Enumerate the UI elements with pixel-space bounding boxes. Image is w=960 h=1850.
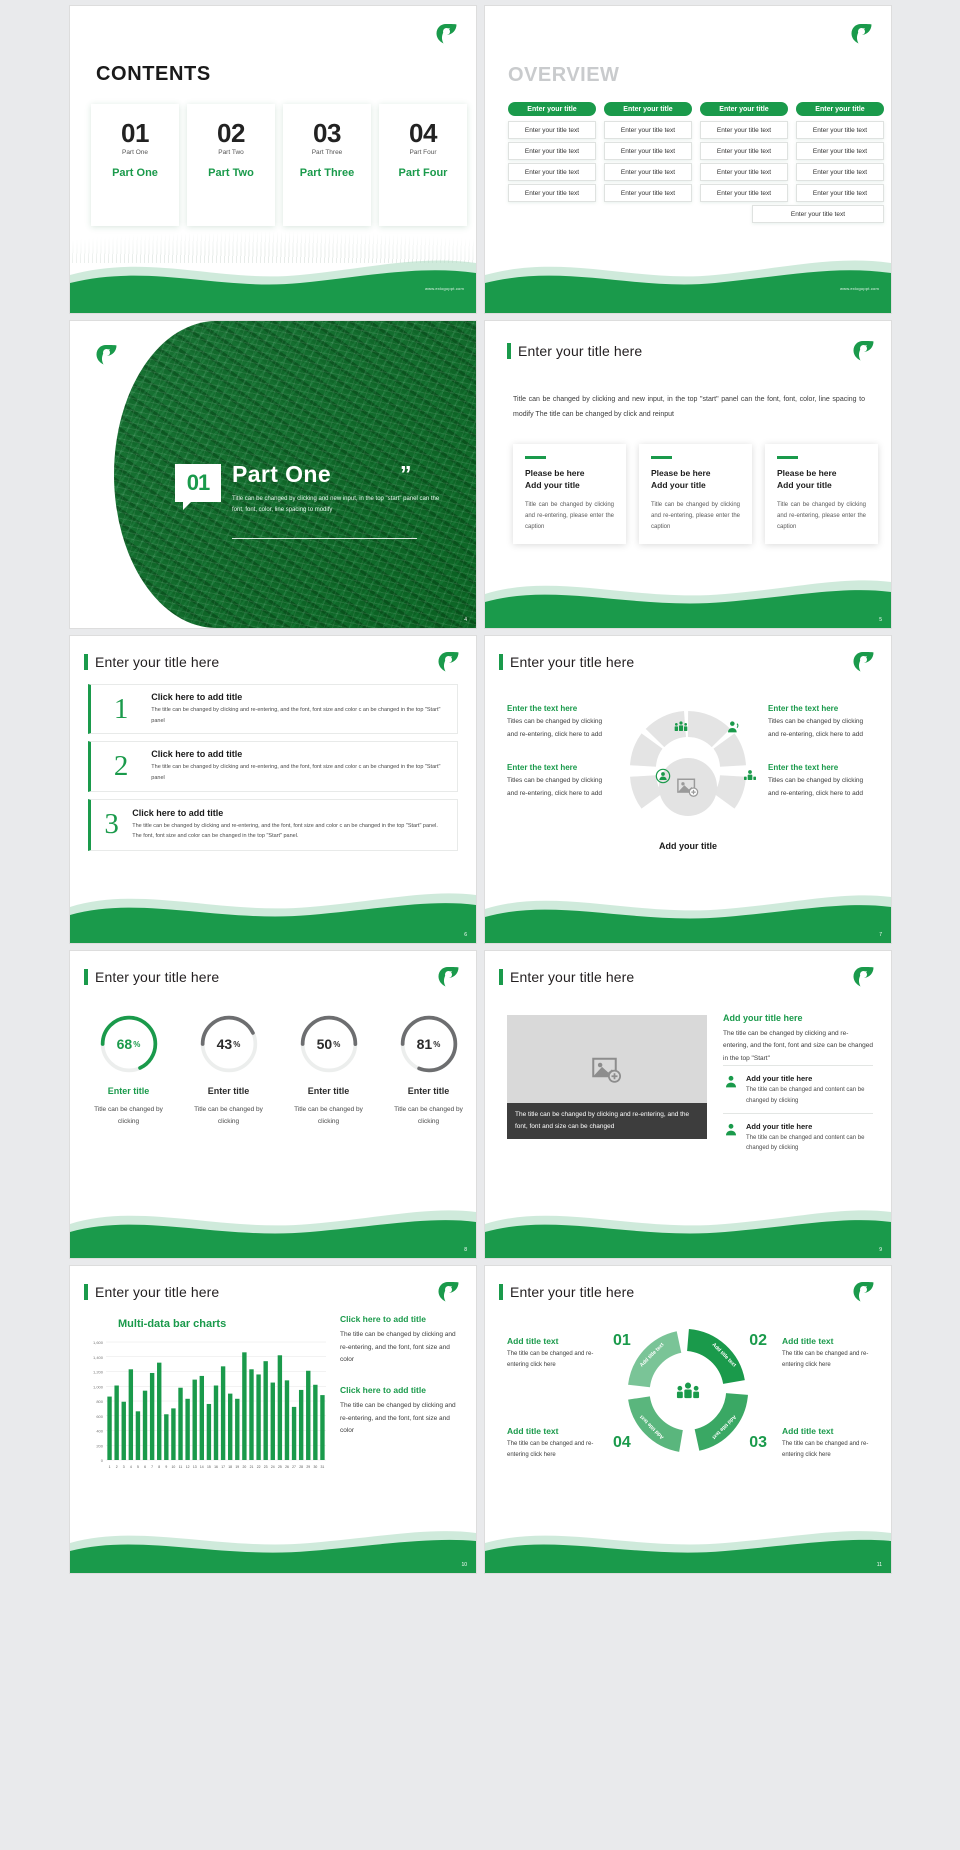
numbered-row[interactable]: 1 Click here to add title The title can … bbox=[88, 684, 458, 734]
numbered-row[interactable]: 3 Click here to add title The title can … bbox=[88, 799, 458, 851]
svg-text:1: 1 bbox=[109, 1465, 111, 1469]
clover-leaf-logo-icon bbox=[436, 965, 460, 989]
title-accent-bar bbox=[84, 969, 88, 985]
numbered-row[interactable]: 2 Click here to add title The title can … bbox=[88, 741, 458, 791]
slide-thumbnail-grid: CONTENTS 01 Part One Part One 02 Part Tw… bbox=[0, 0, 960, 1573]
slide-contents[interactable]: CONTENTS 01 Part One Part One 02 Part Tw… bbox=[70, 6, 476, 313]
svg-text:15: 15 bbox=[207, 1465, 211, 1469]
card-number: 04 bbox=[409, 120, 437, 146]
ring-unit: % bbox=[333, 1040, 340, 1049]
clover-leaf-logo-icon bbox=[851, 339, 875, 363]
clover-leaf-logo-icon bbox=[434, 22, 458, 46]
chart-side-text: Click here to add title The title can be… bbox=[340, 1314, 464, 1456]
clover-leaf-logo-icon bbox=[851, 1280, 875, 1304]
card-subtitle: Part Four bbox=[409, 149, 436, 156]
ring-value: 68 bbox=[117, 1036, 133, 1052]
quadrant-heading: Add title text bbox=[507, 1426, 600, 1436]
overview-cell[interactable]: Enter your title text bbox=[796, 121, 884, 139]
card-subtitle: Part Three bbox=[312, 149, 343, 156]
info-card[interactable]: Please be here Add your title Title can … bbox=[639, 444, 752, 544]
block-heading: Enter the text here bbox=[768, 704, 873, 713]
slide-bar-chart[interactable]: Enter your title here Multi-data bar cha… bbox=[70, 1266, 476, 1573]
quadrant-heading: Add title text bbox=[507, 1336, 600, 1346]
block-body: Titles can be changed by clicking and re… bbox=[507, 716, 612, 741]
svg-text:0: 0 bbox=[101, 1458, 104, 1463]
progress-ring: 50% bbox=[298, 1013, 360, 1075]
wheel-center-label: Add your title bbox=[659, 841, 717, 851]
progress-ring: 43% bbox=[198, 1013, 260, 1075]
row-body: The title can be changed by clicking and… bbox=[151, 705, 447, 726]
numbered-row-list: 1 Click here to add title The title can … bbox=[88, 684, 458, 858]
cycle-center-hub bbox=[659, 1362, 717, 1420]
overview-cell[interactable]: Enter your title text bbox=[508, 121, 596, 139]
text-block: Enter the text here Titles can be change… bbox=[507, 763, 612, 800]
percentage-ring-item[interactable]: 43% Enter title Title can be changed by … bbox=[186, 1013, 271, 1127]
svg-text:6: 6 bbox=[144, 1465, 146, 1469]
ring-value-wrap: 50% bbox=[298, 1013, 360, 1075]
block-body: The title can be changed by clicking and… bbox=[340, 1400, 464, 1438]
svg-text:21: 21 bbox=[250, 1465, 254, 1469]
card-body: Title can be changed by clicking and re-… bbox=[651, 500, 740, 534]
column-title-pill[interactable]: Enter your title bbox=[508, 102, 596, 116]
svg-text:25: 25 bbox=[278, 1465, 282, 1469]
title-accent-bar bbox=[507, 343, 511, 359]
wave-footer-decoration bbox=[485, 1509, 891, 1573]
ring-unit: % bbox=[233, 1040, 240, 1049]
card-heading: Please be here Add your title bbox=[651, 467, 740, 492]
overview-column: Enter your title Enter your title text E… bbox=[508, 102, 596, 226]
left-text-column: Enter the text here Titles can be change… bbox=[507, 704, 612, 823]
quadrant-text-04: Add title text The title can be changed … bbox=[507, 1426, 600, 1462]
overview-cell[interactable]: Enter your title text bbox=[700, 184, 788, 202]
percentage-ring-item[interactable]: 50% Enter title Title can be changed by … bbox=[286, 1013, 371, 1127]
svg-text:5: 5 bbox=[137, 1465, 139, 1469]
page-title: OVERVIEW bbox=[508, 64, 619, 87]
block-heading: Enter the text here bbox=[507, 704, 612, 713]
footer-url: www.exlogoppt.com bbox=[840, 286, 879, 291]
svg-text:400: 400 bbox=[96, 1429, 103, 1434]
svg-text:10: 10 bbox=[172, 1465, 176, 1469]
quote-mark-icon: ” bbox=[400, 461, 412, 488]
quadrant-heading: Add title text bbox=[782, 1426, 875, 1436]
overview-cell[interactable]: Enter your title text bbox=[700, 142, 788, 160]
page-number: 11 bbox=[877, 1562, 882, 1568]
svg-text:23: 23 bbox=[264, 1465, 268, 1469]
page-title-text: Enter your title here bbox=[95, 969, 219, 985]
svg-text:13: 13 bbox=[193, 1465, 197, 1469]
right-heading: Add your title here bbox=[723, 1013, 873, 1023]
person-shield-icon bbox=[655, 768, 671, 784]
svg-text:3: 3 bbox=[123, 1465, 125, 1469]
card-heading: Please be here Add your title bbox=[777, 467, 866, 492]
slide-circular-diagram[interactable]: Enter your title here Enter the text her… bbox=[485, 636, 891, 943]
overview-cell[interactable]: Enter your title text bbox=[508, 163, 596, 181]
card-name: Part One bbox=[112, 167, 158, 179]
ring-label: Enter title bbox=[186, 1086, 271, 1096]
page-number: 9 bbox=[879, 1247, 882, 1253]
svg-text:22: 22 bbox=[257, 1465, 261, 1469]
row-number: 1 bbox=[91, 695, 151, 724]
wave-footer-decoration bbox=[485, 879, 891, 943]
section-number: 01 bbox=[187, 470, 209, 496]
wave-footer-decoration bbox=[485, 249, 891, 313]
slide-numbered-list[interactable]: Enter your title here 1 Click here to ad… bbox=[70, 636, 476, 943]
row-number: 3 bbox=[91, 810, 132, 839]
progress-ring: 68% bbox=[98, 1013, 160, 1075]
wave-footer-decoration bbox=[70, 1194, 476, 1258]
people-group-icon bbox=[675, 1380, 701, 1402]
title-accent-bar bbox=[499, 1284, 503, 1300]
section-title: Part One bbox=[232, 461, 447, 488]
slide-section-divider-part-one[interactable]: 01 Part One Title can be changed by clic… bbox=[70, 321, 476, 628]
slide-cycle-diagram[interactable]: Enter your title here Add title text The… bbox=[485, 1266, 891, 1573]
card-accent-dash bbox=[777, 456, 798, 459]
chart-title: Multi-data bar charts bbox=[118, 1318, 226, 1330]
page-number: 4 bbox=[464, 617, 467, 623]
slide-image-and-list[interactable]: Enter your title here The title can be c… bbox=[485, 951, 891, 1258]
row-heading: Click here to add title bbox=[151, 749, 447, 759]
overview-cell[interactable]: Enter your title text bbox=[604, 121, 692, 139]
card-body: Title can be changed by clicking and re-… bbox=[525, 500, 614, 534]
section-text-block: Part One Title can be changed by clickin… bbox=[232, 461, 447, 515]
percentage-ring-item[interactable]: 68% Enter title Title can be changed by … bbox=[86, 1013, 171, 1127]
right-body: The title can be changed by clicking and… bbox=[723, 1028, 873, 1065]
svg-text:20: 20 bbox=[242, 1465, 246, 1469]
ring-sub: Title can be changed by clicking bbox=[286, 1104, 371, 1127]
list-item[interactable]: Add your title here The title can be cha… bbox=[723, 1113, 873, 1161]
row-heading: Click here to add title bbox=[151, 692, 447, 702]
overview-cell[interactable]: Enter your title text bbox=[700, 163, 788, 181]
person-group-small-icon bbox=[742, 768, 758, 784]
quadrant-text-03: Add title text The title can be changed … bbox=[782, 1426, 875, 1462]
wave-footer-decoration bbox=[70, 879, 476, 943]
slide-three-cards[interactable]: Enter your title here Title can be chang… bbox=[485, 321, 891, 628]
bar-chart: 1,6001,4001,2001,00080060040020001234567… bbox=[80, 1338, 330, 1478]
item-heading: Add your title here bbox=[746, 1122, 873, 1131]
page-title-text: Enter your title here bbox=[95, 654, 219, 670]
quadrant-body: The title can be changed and re-entering… bbox=[782, 1349, 875, 1372]
image-placeholder-icon bbox=[677, 778, 699, 797]
column-title-pill[interactable]: Enter your title bbox=[604, 102, 692, 116]
svg-text:1,200: 1,200 bbox=[93, 1370, 104, 1375]
svg-text:2: 2 bbox=[116, 1465, 118, 1469]
section-number-badge: 01 bbox=[175, 464, 221, 502]
svg-text:30: 30 bbox=[313, 1465, 317, 1469]
ring-label: Enter title bbox=[86, 1086, 171, 1096]
footer-url: www.exlogoppt.com bbox=[425, 286, 464, 291]
overview-columns: Enter your title Enter your title text E… bbox=[508, 102, 884, 226]
block-body: The title can be changed by clicking and… bbox=[340, 1329, 464, 1367]
svg-text:26: 26 bbox=[285, 1465, 289, 1469]
page-title: Enter your title here bbox=[84, 1284, 219, 1300]
svg-text:4: 4 bbox=[130, 1465, 132, 1469]
image-placeholder-icon bbox=[592, 1057, 622, 1083]
page-title: Enter your title here bbox=[84, 969, 219, 985]
info-card[interactable]: Please be here Add your title Title can … bbox=[513, 444, 626, 544]
svg-text:17: 17 bbox=[221, 1465, 225, 1469]
svg-text:19: 19 bbox=[235, 1465, 239, 1469]
card-accent-dash bbox=[651, 456, 672, 459]
clover-leaf-logo-icon bbox=[436, 650, 460, 674]
card-name: Part Two bbox=[208, 167, 254, 179]
card-number: 02 bbox=[217, 120, 245, 146]
quadrant-text-02: Add title text The title can be changed … bbox=[782, 1336, 875, 1372]
block-heading: Click here to add title bbox=[340, 1314, 464, 1324]
svg-text:1,400: 1,400 bbox=[93, 1355, 104, 1360]
svg-text:600: 600 bbox=[96, 1414, 103, 1419]
ring-label: Enter title bbox=[286, 1086, 371, 1096]
ring-unit: % bbox=[133, 1040, 140, 1049]
ring-value: 50 bbox=[317, 1036, 333, 1052]
quadrant-text-01: Add title text The title can be changed … bbox=[507, 1336, 600, 1372]
page-title: Enter your title here bbox=[499, 1284, 634, 1300]
ring-sub: Title can be changed by clicking bbox=[186, 1104, 271, 1127]
quadrant-body: The title can be changed and re-entering… bbox=[507, 1349, 600, 1372]
item-body: The title can be changed and content can… bbox=[746, 1133, 873, 1155]
title-accent-bar bbox=[499, 969, 503, 985]
card-name: Part Three bbox=[300, 167, 354, 179]
svg-text:800: 800 bbox=[96, 1399, 103, 1404]
card-subtitle: Part One bbox=[122, 149, 148, 156]
block-body: Titles can be changed by clicking and re… bbox=[768, 716, 873, 741]
row-body: The title can be changed by clicking and… bbox=[151, 762, 447, 783]
card-number: 01 bbox=[121, 120, 149, 146]
right-content: Add your title here The title can be cha… bbox=[723, 1013, 873, 1160]
progress-ring: 81% bbox=[398, 1013, 460, 1075]
quadrant-heading: Add title text bbox=[782, 1336, 875, 1346]
overview-cell[interactable]: Enter your title text bbox=[796, 184, 884, 202]
section-body: Title can be changed by clicking and new… bbox=[232, 494, 447, 515]
column-title-pill[interactable]: Enter your title bbox=[796, 102, 884, 116]
page-title: Enter your title here bbox=[499, 654, 634, 670]
block-heading: Enter the text here bbox=[768, 763, 873, 772]
ring-unit: % bbox=[433, 1040, 440, 1049]
page-title: Enter your title here bbox=[84, 654, 219, 670]
card-number: 03 bbox=[313, 120, 341, 146]
ring-value: 81 bbox=[417, 1036, 433, 1052]
row-body: The title can be changed by clicking and… bbox=[132, 821, 447, 842]
person-icon bbox=[723, 1122, 739, 1138]
people-group-icon bbox=[673, 719, 689, 735]
svg-text:1,600: 1,600 bbox=[93, 1340, 104, 1345]
page-title: Enter your title here bbox=[499, 969, 634, 985]
right-text-column: Enter the text here Titles can be change… bbox=[768, 704, 873, 823]
svg-text:12: 12 bbox=[186, 1465, 190, 1469]
block-body: Titles can be changed by clicking and re… bbox=[507, 775, 612, 800]
page-number: 5 bbox=[879, 617, 882, 623]
overview-cell[interactable]: Enter your title text bbox=[796, 163, 884, 181]
svg-text:28: 28 bbox=[299, 1465, 303, 1469]
card-name: Part Four bbox=[399, 167, 448, 179]
ring-sub: Title can be changed by clicking bbox=[386, 1104, 471, 1127]
divider-rule bbox=[232, 538, 417, 539]
block-heading: Enter the text here bbox=[507, 763, 612, 772]
lead-paragraph: Title can be changed by clicking and new… bbox=[513, 393, 865, 422]
text-block: Enter the text here Titles can be change… bbox=[507, 704, 612, 741]
title-accent-bar bbox=[499, 654, 503, 670]
wave-footer-decoration bbox=[485, 1194, 891, 1258]
page-title-text: Enter your title here bbox=[510, 654, 634, 670]
ring-value: 43 bbox=[217, 1036, 233, 1052]
text-block: Enter the text here Titles can be change… bbox=[768, 704, 873, 741]
list-item[interactable]: Add your title here The title can be cha… bbox=[723, 1065, 873, 1113]
svg-text:9: 9 bbox=[165, 1465, 167, 1469]
page-title-text: Enter your title here bbox=[95, 1284, 219, 1300]
slide-overview[interactable]: OVERVIEW Enter your title Enter your tit… bbox=[485, 6, 891, 313]
percentage-ring-item[interactable]: 81% Enter title Title can be changed by … bbox=[386, 1013, 471, 1127]
clover-leaf-logo-icon bbox=[94, 343, 118, 367]
wave-footer-decoration bbox=[70, 1509, 476, 1573]
title-accent-bar bbox=[84, 1284, 88, 1300]
svg-text:200: 200 bbox=[96, 1443, 103, 1448]
overview-cell[interactable]: Enter your title text bbox=[604, 142, 692, 160]
block-body: Titles can be changed by clicking and re… bbox=[768, 775, 873, 800]
card-heading: Please be here Add your title bbox=[525, 467, 614, 492]
wheel-center-hub bbox=[659, 758, 717, 816]
svg-text:16: 16 bbox=[214, 1465, 218, 1469]
overview-column: Enter your title Enter your title text E… bbox=[604, 102, 692, 226]
page-title-text: Enter your title here bbox=[510, 969, 634, 985]
text-block: Enter the text here Titles can be change… bbox=[768, 763, 873, 800]
title-accent-bar bbox=[84, 654, 88, 670]
wave-footer-decoration bbox=[485, 564, 891, 628]
clover-leaf-logo-icon bbox=[849, 22, 873, 46]
overview-column: Enter your title Enter your title text E… bbox=[796, 102, 884, 226]
ring-value-wrap: 81% bbox=[398, 1013, 460, 1075]
clover-leaf-logo-icon bbox=[851, 965, 875, 989]
svg-text:8: 8 bbox=[158, 1465, 160, 1469]
card-body: Title can be changed by clicking and re-… bbox=[777, 500, 866, 534]
svg-text:11: 11 bbox=[179, 1465, 183, 1469]
card-accent-dash bbox=[525, 456, 546, 459]
page-title: Enter your title here bbox=[507, 343, 642, 359]
fan-decoration bbox=[70, 203, 476, 263]
svg-text:31: 31 bbox=[321, 1465, 325, 1469]
overview-cell[interactable]: Enter your title text bbox=[700, 121, 788, 139]
quadrant-body: The title can be changed and re-entering… bbox=[507, 1439, 600, 1462]
overview-cell[interactable]: Enter your title text bbox=[752, 205, 884, 223]
column-title-pill[interactable]: Enter your title bbox=[700, 102, 788, 116]
block-heading: Click here to add title bbox=[340, 1385, 464, 1395]
page-title-text: Enter your title here bbox=[510, 1284, 634, 1300]
overview-cell[interactable]: Enter your title text bbox=[604, 163, 692, 181]
item-heading: Add your title here bbox=[746, 1074, 873, 1083]
svg-text:29: 29 bbox=[306, 1465, 310, 1469]
slide-percentage-rings[interactable]: Enter your title here 68% Enter title Ti… bbox=[70, 951, 476, 1258]
page-title-text: Enter your title here bbox=[518, 343, 642, 359]
ring-value-wrap: 68% bbox=[98, 1013, 160, 1075]
info-card[interactable]: Please be here Add your title Title can … bbox=[765, 444, 878, 544]
svg-text:7: 7 bbox=[151, 1465, 153, 1469]
person-headset-icon bbox=[725, 719, 741, 735]
page-number: 10 bbox=[461, 1562, 467, 1568]
percentage-ring-list: 68% Enter title Title can be changed by … bbox=[86, 1013, 471, 1127]
quadrant-body: The title can be changed and re-entering… bbox=[782, 1439, 875, 1462]
svg-text:27: 27 bbox=[292, 1465, 296, 1469]
card-subtitle: Part Two bbox=[218, 149, 244, 156]
overview-cell[interactable]: Enter your title text bbox=[508, 184, 596, 202]
overview-cell[interactable]: Enter your title text bbox=[604, 184, 692, 202]
card-list: Please be here Add your title Title can … bbox=[513, 444, 878, 544]
row-number: 2 bbox=[91, 752, 151, 781]
clover-leaf-logo-icon bbox=[436, 1280, 460, 1304]
svg-text:24: 24 bbox=[271, 1465, 275, 1469]
item-body: The title can be changed and content can… bbox=[746, 1085, 873, 1107]
person-icon bbox=[723, 1074, 739, 1090]
svg-text:1,000: 1,000 bbox=[93, 1384, 104, 1389]
page-number: 8 bbox=[464, 1247, 467, 1253]
overview-cell[interactable]: Enter your title text bbox=[796, 142, 884, 160]
ring-label: Enter title bbox=[386, 1086, 471, 1096]
page-number: 6 bbox=[464, 932, 467, 938]
clover-leaf-logo-icon bbox=[851, 650, 875, 674]
svg-text:14: 14 bbox=[200, 1465, 204, 1469]
svg-text:18: 18 bbox=[228, 1465, 232, 1469]
row-heading: Click here to add title bbox=[132, 808, 447, 818]
image-caption: The title can be changed by clicking and… bbox=[507, 1103, 707, 1139]
ring-value-wrap: 43% bbox=[198, 1013, 260, 1075]
page-number: 7 bbox=[879, 932, 882, 938]
overview-cell[interactable]: Enter your title text bbox=[508, 142, 596, 160]
ring-sub: Title can be changed by clicking bbox=[86, 1104, 171, 1127]
page-title: CONTENTS bbox=[96, 63, 211, 86]
